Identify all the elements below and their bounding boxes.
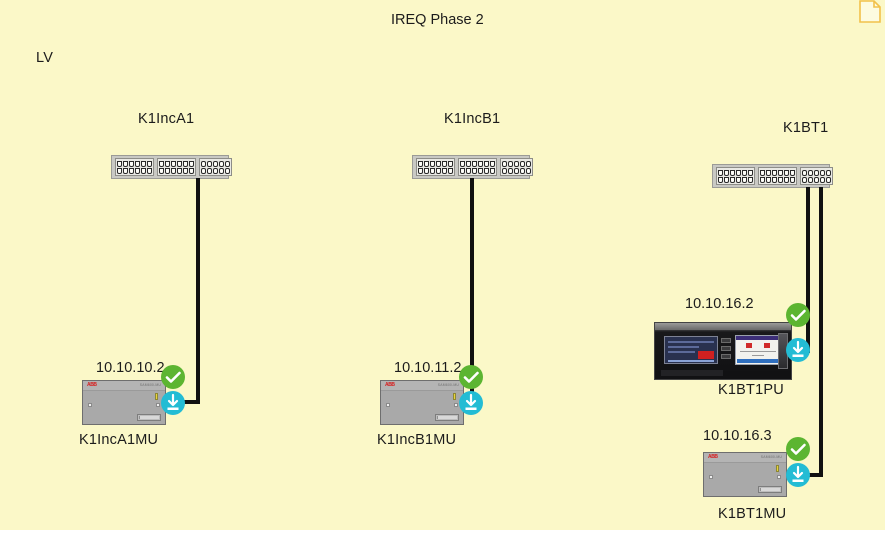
- device-terminal-left: [709, 475, 713, 479]
- device-k1inca1mu[interactable]: ABB SAM600-MU: [82, 380, 166, 425]
- network-switch-k1inca1[interactable]: [111, 155, 229, 179]
- device-ip-k1incb1mu: 10.10.11.2: [394, 360, 461, 376]
- switch-label-k1incb1: K1IncB1: [444, 111, 500, 127]
- switch-port-group: [758, 167, 797, 185]
- device-keypad: [721, 346, 731, 351]
- status-badge-download-k1bt1mu[interactable]: [785, 462, 811, 488]
- device-connector: [435, 414, 459, 421]
- vendor-logo: ABB: [708, 454, 718, 460]
- page-corner-icon: [857, 0, 883, 31]
- device-connector: [137, 414, 161, 421]
- status-led: [453, 393, 456, 400]
- status-led: [155, 393, 158, 400]
- status-badge-ok-k1bt1pu[interactable]: [785, 302, 811, 328]
- device-ip-k1bt1pu: 10.10.16.2: [685, 296, 754, 312]
- network-diagram-canvas[interactable]: IREQ Phase 2 LV K1IncA1 10.10.10.2 ABB S…: [0, 0, 885, 530]
- switch-label-k1bt1: K1BT1: [783, 120, 828, 136]
- device-top-bezel: [655, 323, 791, 330]
- switch-uplink-group: [800, 167, 833, 185]
- device-ip-k1inca1mu: 10.10.10.2: [96, 360, 165, 376]
- device-label-k1incb1mu: K1IncB1MU: [377, 432, 456, 448]
- status-led: [776, 465, 779, 472]
- switch-uplink-group: [199, 158, 232, 176]
- switch-uplink-group: [500, 158, 533, 176]
- device-indicator-bar: [661, 370, 723, 376]
- switch-port-group: [716, 167, 755, 185]
- device-label-k1inca1mu: K1IncA1MU: [79, 432, 158, 448]
- cable-k1bt1pu: [806, 187, 810, 353]
- switch-port-group: [458, 158, 497, 176]
- switch-label-k1inca1: K1IncA1: [138, 111, 194, 127]
- device-connector: [758, 486, 782, 493]
- device-terminal-right: [777, 475, 781, 479]
- device-keypad: [721, 338, 731, 343]
- switch-port-group: [416, 158, 455, 176]
- status-badge-ok-k1incb1mu[interactable]: [458, 364, 484, 390]
- status-badge-download-k1incb1mu[interactable]: [458, 390, 484, 416]
- device-terminal-left: [88, 403, 92, 407]
- bottom-strip: [0, 530, 885, 536]
- device-keypad: [721, 354, 731, 359]
- status-badge-download-k1bt1pu[interactable]: [785, 337, 811, 363]
- cable-k1bt1mu: [819, 187, 823, 477]
- device-hmi-screen: [735, 335, 781, 365]
- device-lcd-display: [664, 336, 718, 364]
- vendor-logo: ABB: [87, 382, 97, 388]
- device-terminal-left: [386, 403, 390, 407]
- device-model: SAM600-MU: [140, 383, 161, 387]
- switch-port-group: [157, 158, 196, 176]
- status-badge-ok-k1bt1mu[interactable]: [785, 436, 811, 462]
- switch-port-group: [115, 158, 154, 176]
- vendor-logo: ABB: [385, 382, 395, 388]
- network-switch-k1incb1[interactable]: [412, 155, 530, 179]
- device-model: SAM600-MU: [761, 455, 782, 459]
- device-k1bt1mu[interactable]: ABB SAM600-MU: [703, 452, 787, 497]
- device-model: SAM600-MU: [438, 383, 459, 387]
- device-k1incb1mu[interactable]: ABB SAM600-MU: [380, 380, 464, 425]
- status-badge-download-k1inca1mu[interactable]: [160, 390, 186, 416]
- device-ip-k1bt1mu: 10.10.16.3: [703, 428, 772, 444]
- device-label-k1bt1mu: K1BT1MU: [718, 506, 786, 522]
- network-switch-k1bt1[interactable]: [712, 164, 830, 188]
- cable-k1inca1: [196, 178, 200, 404]
- status-badge-ok-k1inca1mu[interactable]: [160, 364, 186, 390]
- voltage-level-label: LV: [36, 50, 53, 66]
- page-title: IREQ Phase 2: [391, 12, 484, 28]
- device-k1bt1pu[interactable]: [654, 322, 792, 380]
- device-label-k1bt1pu: K1BT1PU: [718, 382, 784, 398]
